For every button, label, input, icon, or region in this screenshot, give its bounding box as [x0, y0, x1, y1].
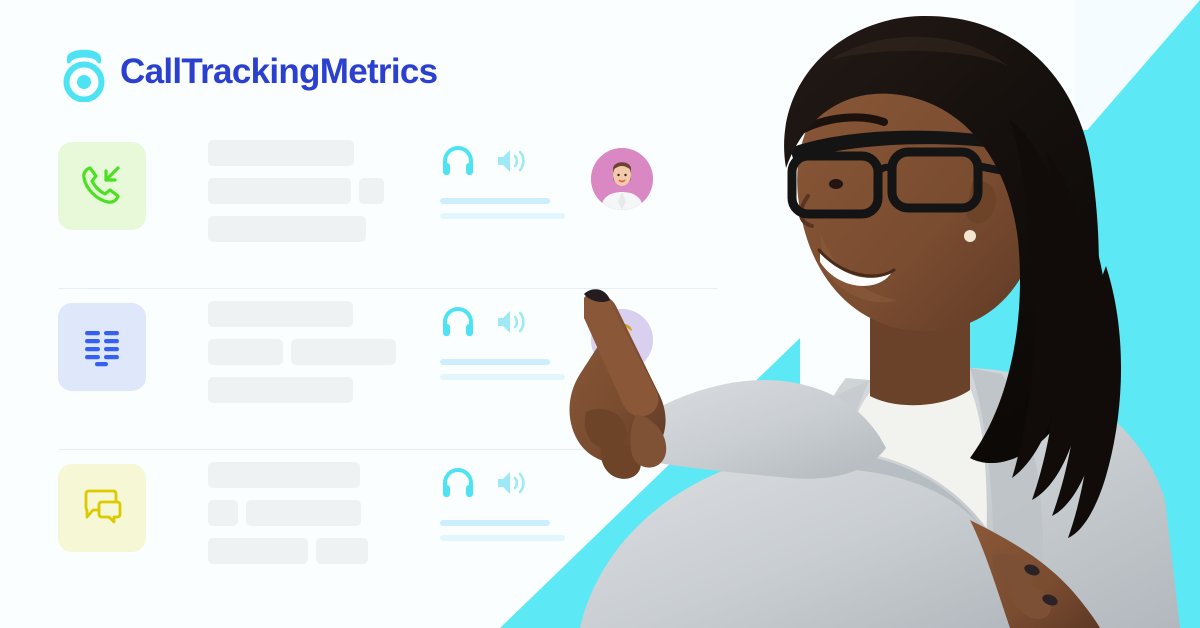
banner-canvas: CallTrackingMetrics [0, 0, 1200, 628]
skeleton-bar [208, 462, 360, 488]
chat-bubbles-icon [77, 481, 127, 536]
incoming-call-icon [77, 159, 127, 214]
speaker-icon[interactable] [494, 146, 528, 181]
call-detail-skeleton [208, 301, 408, 403]
call-type-tile[interactable] [58, 464, 146, 552]
skeleton-bar [359, 178, 384, 204]
waveform-bar [440, 198, 550, 204]
skeleton-bar [208, 178, 351, 204]
skeleton-bar [208, 140, 354, 166]
skeleton-bar [246, 500, 361, 526]
skeleton-bar [208, 339, 283, 365]
skeleton-bar [316, 538, 368, 564]
transcript-icon [78, 321, 126, 374]
skeleton-bar [208, 216, 366, 242]
headphones-icon[interactable] [440, 304, 476, 345]
skeleton-bar [208, 377, 353, 403]
headphones-icon[interactable] [440, 143, 476, 184]
headphones-icon[interactable] [440, 465, 476, 506]
phone-ring-logo-icon [58, 40, 110, 102]
call-type-tile[interactable] [58, 303, 146, 391]
skeleton-bar [208, 500, 238, 526]
speaker-icon[interactable] [494, 307, 528, 342]
skeleton-bar [208, 301, 353, 327]
woman-pointing-photo [540, 0, 1200, 628]
speaker-icon[interactable] [494, 468, 528, 503]
skeleton-bar [291, 339, 396, 365]
call-detail-skeleton [208, 140, 408, 242]
brand-logo: CallTrackingMetrics [58, 40, 437, 102]
call-detail-skeleton [208, 462, 408, 564]
brand-name: CallTrackingMetrics [120, 54, 437, 89]
skeleton-bar [208, 538, 308, 564]
call-type-tile[interactable] [58, 142, 146, 230]
waveform-bar [440, 359, 550, 365]
waveform-bar [440, 520, 550, 526]
